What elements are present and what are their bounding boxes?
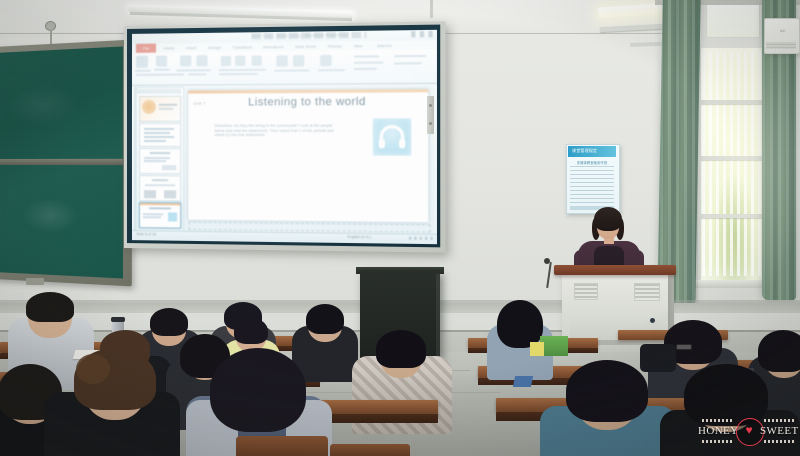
headphones-icon-glow — [373, 118, 411, 155]
watermark: HONEY ♥ SWEET — [700, 414, 796, 450]
ribbon-panel[interactable] — [132, 50, 437, 86]
font-size-box[interactable] — [188, 73, 206, 75]
glasses-icon — [676, 344, 692, 350]
backpack-on-desk — [640, 344, 676, 372]
heart-icon: ♥ — [743, 425, 755, 436]
thumb5-headphones-icon — [168, 212, 177, 221]
thermos-lid — [111, 317, 125, 322]
tab-animations[interactable]: Animations — [260, 43, 287, 50]
paste-icon[interactable] — [136, 56, 148, 68]
reset-icon[interactable] — [196, 55, 207, 66]
window-blind-slat — [716, 52, 719, 276]
slide-editing-area[interactable]: Unit 7 Listening to the world Directions… — [184, 85, 435, 233]
thumb5-line-2 — [143, 216, 161, 218]
language-indicator: English (U.S.) — [347, 235, 370, 239]
slide-thumbnail-1[interactable] — [139, 96, 181, 122]
tab-addins[interactable]: Add-Ins — [373, 42, 396, 50]
window-blind-slat — [751, 52, 754, 276]
drawing-group-label — [274, 69, 309, 71]
editing-group-label — [394, 55, 426, 57]
find-button[interactable] — [354, 55, 379, 57]
slides-label — [154, 69, 170, 71]
whiteboard-mount-bracket — [427, 96, 434, 134]
slide-thumbnail-2[interactable] — [139, 123, 181, 147]
slide-thumbnail-4[interactable] — [139, 175, 181, 201]
student-hair — [566, 360, 648, 422]
student-hair — [376, 330, 426, 368]
slide-accent-bar — [188, 89, 428, 93]
paste-label — [135, 70, 151, 72]
select-button[interactable] — [354, 68, 377, 70]
mount-bolt-upper — [429, 104, 432, 107]
blackboard-divider-rail — [0, 159, 123, 165]
window-blind-slat — [744, 52, 747, 276]
student-hair — [234, 318, 268, 344]
lectern-speaker-grill-left — [574, 283, 598, 300]
paragraph-group-label — [219, 69, 266, 71]
thumb2-line-2 — [144, 132, 170, 134]
projected-image: Unit 7 Lis... [Read-Only] - Microsoft Po… — [132, 30, 437, 244]
student-hair — [26, 292, 74, 322]
chalk-tray — [26, 278, 44, 285]
notice-board-text-lines — [570, 166, 614, 206]
replace-button[interactable] — [354, 62, 384, 64]
watermark-dots-bottom-right — [764, 440, 796, 443]
ceiling-hanger-rod — [430, 0, 433, 18]
underline-icon[interactable] — [252, 56, 262, 66]
tab-slideshow[interactable]: Slide Show — [291, 43, 320, 51]
tab-file[interactable]: File — [136, 44, 156, 53]
student-hair — [210, 348, 306, 432]
transom-window — [706, 0, 760, 38]
font-group-label — [176, 69, 210, 71]
ac-brand-label: AC — [780, 28, 786, 33]
thumb1-graphic — [142, 100, 156, 114]
slide-counter: Slide 5 of 18 — [136, 232, 156, 236]
thumb2-line-4 — [144, 140, 166, 142]
thumb1-title-line — [159, 104, 177, 106]
window-blind-slat — [737, 52, 740, 276]
teacher-hair — [594, 207, 622, 231]
quick-styles-icon[interactable] — [320, 55, 332, 66]
thumb4-image-left — [144, 190, 156, 198]
thumb3-line-1 — [144, 157, 170, 159]
slide-thumbnail-pane[interactable] — [134, 87, 184, 232]
av-cabinet-highlight — [436, 274, 440, 358]
seat-back-center — [236, 436, 328, 456]
notice-board-header-text: 课堂管理规定 — [572, 148, 597, 154]
mount-bolt-lower — [429, 122, 432, 125]
powerpoint-window[interactable]: Unit 7 Lis... [Read-Only] - Microsoft Po… — [132, 30, 437, 244]
window-blind-slat — [758, 52, 761, 276]
thumb1-sub-line — [159, 108, 173, 110]
watermark-right-word: SWEET — [760, 425, 800, 437]
curtain-left-folds — [660, 0, 698, 306]
watermark-dots-bottom-left — [702, 440, 734, 443]
window-mullion-lower — [700, 214, 768, 218]
yellow-folder — [530, 342, 544, 356]
lectern-speaker-grill-right — [634, 283, 660, 301]
tab-home[interactable]: Home — [160, 44, 178, 51]
align-row[interactable] — [219, 73, 258, 75]
thumb3-title — [150, 152, 170, 154]
window-blind-slat — [702, 52, 705, 276]
window-mullion-middle — [700, 156, 768, 160]
new-slide-icon[interactable] — [156, 56, 167, 67]
student-hair — [150, 308, 188, 336]
tab-insert[interactable]: Insert — [182, 44, 200, 51]
window-controls[interactable] — [411, 31, 435, 38]
thumb4-image-right — [164, 190, 176, 198]
thumb3-line-2 — [144, 160, 166, 162]
student-hair — [497, 300, 543, 348]
watermark-dots-top-right — [764, 419, 796, 422]
tab-view[interactable]: View — [350, 42, 367, 49]
classroom-photo: Unit 7 Lis... [Read-Only] - Microsoft Po… — [0, 0, 800, 456]
window-mullion-upper — [700, 100, 768, 104]
slide-thumbnail-3[interactable] — [139, 148, 181, 174]
addins-button[interactable] — [394, 62, 422, 64]
thumb4-line — [145, 184, 175, 186]
thumb2-line-1 — [144, 128, 174, 130]
tab-transitions[interactable]: Transitions — [229, 43, 256, 50]
blue-booklet — [513, 376, 533, 387]
screen-bezel: Unit 7 Lis... [Read-Only] - Microsoft Po… — [127, 25, 440, 248]
tab-design[interactable]: Design — [205, 44, 225, 51]
tab-review[interactable]: Review — [324, 42, 345, 49]
thumb5-title — [149, 207, 171, 209]
ac-vent-grill — [766, 42, 796, 49]
arrange-icon[interactable] — [293, 55, 304, 66]
seat-back-right-of-center — [330, 444, 410, 456]
bold-icon[interactable] — [221, 56, 231, 66]
layout-icon[interactable] — [180, 55, 191, 66]
window-blind-slat — [709, 52, 712, 276]
blackboard — [0, 40, 132, 287]
student-hair-highlight — [76, 354, 110, 384]
green-textbook — [540, 336, 568, 356]
thumb5-line-1 — [143, 213, 163, 215]
font-family-box[interactable] — [136, 74, 184, 76]
thumb4-title — [152, 179, 168, 181]
wall-sensor-icon — [46, 22, 55, 30]
styles-label — [318, 69, 345, 71]
shapes-icon[interactable] — [276, 55, 287, 66]
projection-whiteboard[interactable]: Unit 7 Lis... [Read-Only] - Microsoft Po… — [124, 21, 446, 252]
thumb5-accent — [140, 203, 180, 205]
italic-icon[interactable] — [235, 56, 245, 66]
watermark-left-word: HONEY — [698, 425, 738, 437]
thumb3-graphic — [162, 165, 176, 170]
slide-title: Listening to the world — [188, 95, 428, 108]
slide-thumbnail-5-selected[interactable] — [139, 202, 181, 229]
microphone-icon — [544, 258, 550, 264]
slide-body-text: Directions: Do they like being in the co… — [215, 124, 337, 138]
thumb2-line-3 — [144, 136, 174, 138]
outline-slides-tabs[interactable] — [137, 89, 181, 94]
thumbnail-pane-scrollbar[interactable] — [135, 88, 137, 230]
window-blind-slat — [723, 52, 726, 276]
student-hair — [758, 330, 800, 372]
student-hair — [306, 304, 344, 334]
current-slide[interactable]: Unit 7 Listening to the world Directions… — [188, 89, 428, 222]
zoom-slider[interactable] — [409, 237, 433, 240]
notice-board-subtitle: 多媒体教室使用守则 — [572, 160, 612, 165]
lectern-power-button[interactable] — [650, 318, 655, 323]
watermark-dots-top-left — [702, 419, 734, 422]
lectern-desktop — [554, 265, 676, 275]
window-blind-slat — [730, 52, 733, 276]
